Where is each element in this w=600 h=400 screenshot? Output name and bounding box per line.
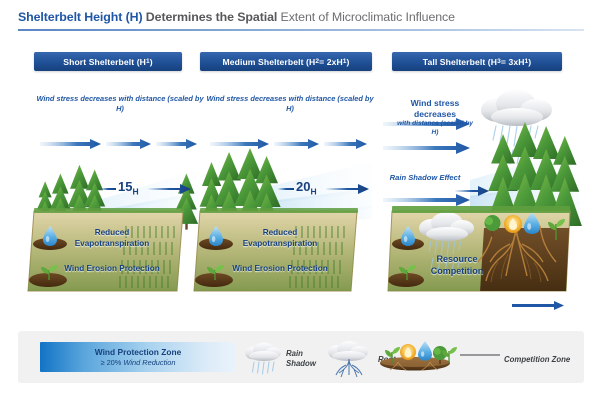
rain-shadow-effect-label: Rain Shadow Effect <box>389 173 461 183</box>
soil-label-short-evapotranspiration: Reduced Evapotranspiration <box>60 228 164 249</box>
panel-header-tall-tail: = 3xH <box>501 57 525 67</box>
soil-label-short-wind-erosion: Wind Erosion Protection <box>60 264 164 275</box>
wind-arrows-medium <box>210 139 367 149</box>
panel-header-medium: Medium Shelterbelt (H2 = 2xH1) <box>200 52 372 71</box>
panel-header-medium-tail2: ) <box>347 57 350 67</box>
panel-header-short-tail: ) <box>150 57 153 67</box>
page-title-emphasis: Shelterbelt Height (H) <box>18 10 142 24</box>
panel-header-medium-label: Medium Shelterbelt (H <box>222 57 315 67</box>
distance-label-medium: 20H <box>296 179 317 197</box>
soil-label-tall-resource-competition: Resource Competition <box>414 254 500 277</box>
wind-annotation-short: Wind stress decreases with distance (sca… <box>36 94 204 114</box>
distance-label-short-unit: H <box>132 187 138 197</box>
distance-label-short-value: 15 <box>118 179 132 194</box>
diagram-scene: Wind stress decreases with distance (sca… <box>0 76 600 321</box>
legend-wind-zone-title: Wind Protection Zone <box>95 347 181 357</box>
distance-label-medium-value: 20 <box>296 179 310 194</box>
panel-header-tall-label: Tall Shelterbelt (H <box>423 57 497 67</box>
page-title-tail: Extent of Microclimatic Influence <box>277 10 455 24</box>
panel-header-short-label: Short Shelterbelt (H <box>63 57 146 67</box>
soil-panel-medium <box>192 211 360 293</box>
page-title-text: Shelterbelt Height (H) Determines the Sp… <box>18 10 455 24</box>
legend-competition-zone-icon <box>374 337 504 381</box>
competition-zone-arrow <box>512 301 564 310</box>
wind-annotation-tall-sub: with distance (scaled by H) <box>396 120 474 137</box>
panel-header-tall: Tall Shelterbelt (H3 = 3xH1) <box>392 52 562 71</box>
legend-wind-zone-threshold: ≥ 20% <box>100 358 123 367</box>
panel-header-medium-tail: = 2xH <box>319 57 343 67</box>
sun-icon-competition <box>504 215 522 233</box>
distance-label-short: 15H <box>118 179 139 197</box>
soil-panel-short <box>26 211 186 293</box>
soil-label-medium-evapotranspiration: Reduced Evapotranspiration <box>228 228 332 249</box>
legend-wind-protection-zone: Wind Protection Zone ≥ 20% Wind Reductio… <box>40 342 236 372</box>
wind-arrows-short <box>40 139 197 149</box>
soil-label-medium-wind-erosion: Wind Erosion Protection <box>228 264 332 275</box>
page-title-secondary: Determines the Spatial <box>142 10 277 24</box>
legend: Wind Protection Zone ≥ 20% Wind Reductio… <box>18 331 584 383</box>
legend-wind-zone-reduction: Wind Reduction <box>123 358 175 367</box>
legend-rain-shadow-icon <box>240 339 286 379</box>
panel-header-tall-tail2: ) <box>528 57 531 67</box>
title-divider <box>18 29 584 31</box>
legend-competition-zone-label: Competition Zone <box>504 355 570 365</box>
wind-annotation-tall-main: Wind stress decreases <box>396 98 474 119</box>
legend-root-icon <box>320 337 376 381</box>
distance-label-medium-unit: H <box>310 187 316 197</box>
wind-annotation-tall: Wind stress decreases with distance (sca… <box>396 98 474 138</box>
panel-header-short: Short Shelterbelt (H1) <box>34 52 182 71</box>
wind-annotation-medium: Wind stress decreases with distance (sca… <box>206 94 374 114</box>
legend-wind-zone-subtitle: ≥ 20% Wind Reduction <box>100 358 175 367</box>
